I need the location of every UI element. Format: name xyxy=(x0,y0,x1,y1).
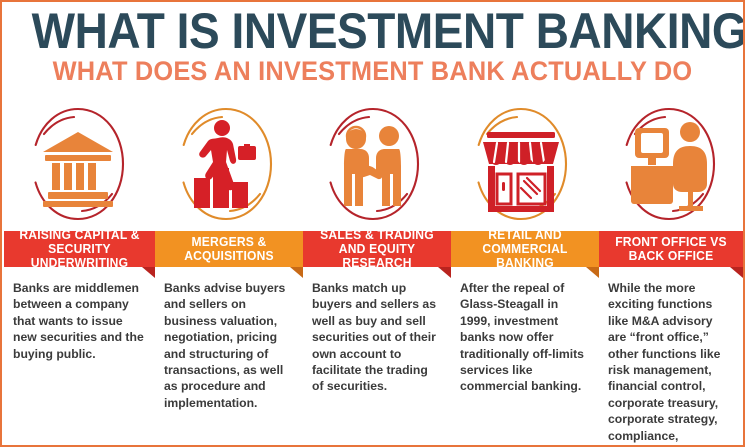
icon-row: $ xyxy=(4,98,743,230)
bank-building-icon xyxy=(18,102,138,226)
column-header-label: SALES & TRADING AND EQUITY RESEARCH xyxy=(312,228,442,270)
page-title: WHAT IS INVESTMENT BANKING? xyxy=(32,4,714,58)
column-header-label: RAISING CAPITAL & SECURITY UNDERWRITING xyxy=(13,228,146,270)
column-body-front-back-office: While the more exciting functions like M… xyxy=(599,276,743,445)
page-subtitle: WHAT DOES AN INVESTMENT BANK ACTUALLY DO xyxy=(24,56,721,87)
icon-cell-3: $ xyxy=(300,98,448,230)
column-body-retail-commercial: After the repeal of Glass-Steagall in 19… xyxy=(451,276,599,445)
column-header-sales-trading[interactable]: SALES & TRADING AND EQUITY RESEARCH xyxy=(303,231,451,267)
svg-text:$: $ xyxy=(353,130,360,144)
title-block: WHAT IS INVESTMENT BANKING? WHAT DOES AN… xyxy=(2,4,743,87)
storefront-shop-icon xyxy=(461,102,581,226)
infographic-root: WHAT IS INVESTMENT BANKING? WHAT DOES AN… xyxy=(0,0,745,447)
column-body-text: Banks match up buyers and sellers as wel… xyxy=(312,280,441,395)
icon-cell-1 xyxy=(4,98,152,230)
column-body-text: While the more exciting functions like M… xyxy=(608,280,733,447)
icon-cell-4 xyxy=(447,98,595,230)
column-body-text: Banks advise buyers and sellers on busin… xyxy=(164,280,293,411)
column-body-raising-capital: Banks are middlemen between a company th… xyxy=(4,276,155,445)
icon-cell-2 xyxy=(152,98,300,230)
column-body-text: Banks are middlemen between a company th… xyxy=(13,280,145,362)
column-header-front-back-office[interactable]: FRONT OFFICE VS BACK OFFICE xyxy=(599,231,743,267)
person-climbing-bar-chart-icon xyxy=(166,102,286,226)
column-header-row: RAISING CAPITAL & SECURITY UNDERWRITING … xyxy=(4,231,743,276)
column-header-label: RETAIL AND COMMERCIAL BANKING xyxy=(460,228,590,270)
column-header-mergers-acquisitions[interactable]: MERGERS & ACQUISITIONS xyxy=(155,231,303,267)
column-body-mergers-acquisitions: Banks advise buyers and sellers on busin… xyxy=(155,276,303,445)
column-header-label: FRONT OFFICE VS BACK OFFICE xyxy=(608,235,734,263)
handshake-with-coin-icon: $ xyxy=(313,102,433,226)
column-body-text: After the repeal of Glass-Steagall in 19… xyxy=(460,280,589,395)
column-body-row: Banks are middlemen between a company th… xyxy=(4,276,743,445)
column-header-raising-capital[interactable]: RAISING CAPITAL & SECURITY UNDERWRITING xyxy=(4,231,155,267)
column-header-retail-commercial[interactable]: RETAIL AND COMMERCIAL BANKING xyxy=(451,231,599,267)
column-header-label: MERGERS & ACQUISITIONS xyxy=(164,235,294,263)
column-body-sales-trading: Banks match up buyers and sellers as wel… xyxy=(303,276,451,445)
office-worker-desk-computer-icon xyxy=(609,102,729,226)
icon-cell-5 xyxy=(595,98,743,230)
